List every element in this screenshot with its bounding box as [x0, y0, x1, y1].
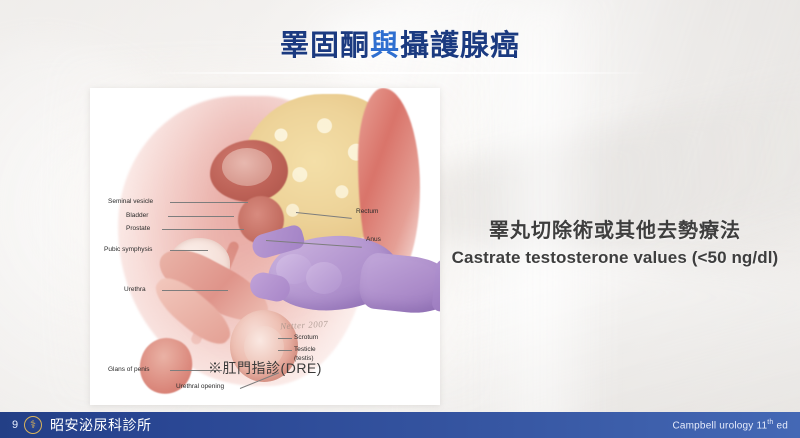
- leader-prostate: [162, 229, 244, 230]
- anatomy-illustration-card: Netter 2007 Seminal vesicle Bladder Pros…: [90, 88, 440, 405]
- dre-caption: ※肛門指診(DRE): [90, 358, 440, 378]
- slide-title-main: 睪固酮: [280, 30, 370, 62]
- source-citation: Campbell urology 11th ed: [672, 419, 788, 431]
- leader-testicle: [278, 350, 292, 351]
- label-prostate: Prostate: [126, 225, 150, 232]
- leader-bladder: [168, 216, 234, 217]
- label-testicle: Testicle: [294, 346, 316, 353]
- body-text-block: 睪丸切除術或其他去勢療法 Castrate testosterone value…: [440, 218, 790, 270]
- clinic-name: 昭安泌尿科診所: [50, 415, 152, 435]
- label-rectum: Rectum: [356, 208, 378, 215]
- glove-forearm: [357, 251, 440, 316]
- leader-seminal-vesicle: [170, 202, 248, 203]
- label-urethral-opening: Urethral opening: [176, 383, 224, 390]
- body-text-english: Castrate testosterone values (<50 ng/dl): [440, 247, 790, 270]
- slide-title-tail: 攝護腺癌: [400, 30, 520, 62]
- label-urethra: Urethra: [124, 286, 146, 293]
- source-text: Campbell urology 11: [672, 420, 767, 431]
- leader-scrotum: [278, 338, 292, 339]
- slide-title: 睪固酮與攝護腺癌: [0, 22, 800, 64]
- anatomy-bladder-lumen: [222, 148, 272, 186]
- title-divider: [150, 72, 650, 74]
- leader-urethra: [162, 290, 228, 291]
- label-scrotum: Scrotum: [294, 334, 318, 341]
- clinic-logo-icon: ⚕: [24, 416, 42, 434]
- label-pubic-symphysis: Pubic symphysis: [104, 246, 152, 253]
- slide-title-accent: 與: [370, 30, 400, 62]
- label-bladder: Bladder: [126, 212, 148, 219]
- glove-knuckle-two: [306, 262, 342, 294]
- source-tail: ed: [773, 420, 788, 431]
- label-anus: Anus: [366, 236, 381, 243]
- anatomy-illustration: Netter 2007 Seminal vesicle Bladder Pros…: [90, 88, 440, 405]
- body-text-chinese: 睪丸切除術或其他去勢療法: [440, 218, 790, 245]
- page-number: 9: [9, 419, 21, 431]
- label-seminal-vesicle: Seminal vesicle: [108, 198, 153, 205]
- leader-pubic-symphysis: [170, 250, 208, 251]
- logo-glyph-icon: ⚕: [25, 417, 41, 433]
- footer-bar: 9 ⚕ 昭安泌尿科診所 Campbell urology 11th ed: [0, 412, 800, 438]
- slide-root: 睪固酮與攝護腺癌 Netter: [0, 0, 800, 438]
